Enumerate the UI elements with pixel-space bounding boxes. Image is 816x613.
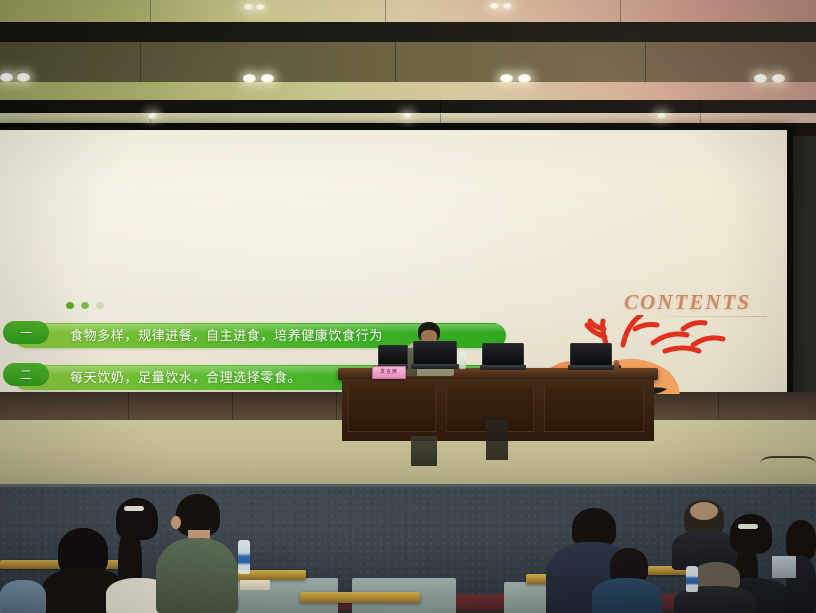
name-placard: 发言席 <box>372 366 406 379</box>
ceiling-light <box>490 3 499 9</box>
tablet-screen <box>772 556 796 578</box>
ceiling-light <box>518 74 531 83</box>
water-bottle-audience <box>686 566 698 592</box>
slide-row-number: 二 <box>3 363 49 386</box>
slide-title: CONTENTS <box>624 290 751 315</box>
laptop <box>411 341 459 369</box>
ceiling-light <box>0 73 13 82</box>
barrier-top-edge <box>0 484 816 487</box>
floor-cable <box>760 456 816 470</box>
bald-crown <box>690 502 718 520</box>
ceiling-beam-top <box>0 22 816 42</box>
hair <box>786 520 816 560</box>
placard-text: 发言席 <box>373 367 405 378</box>
presenter-legs <box>411 436 437 466</box>
slide-dots <box>66 302 104 309</box>
laptop <box>568 343 614 370</box>
water-bottle-audience <box>238 540 250 574</box>
ceiling-light <box>261 74 274 83</box>
ceiling-light <box>243 74 256 83</box>
notebook <box>240 580 270 590</box>
ceiling-light <box>403 113 412 119</box>
dot-icon <box>96 302 104 309</box>
chair-under-table <box>486 420 508 460</box>
slide-title-underline <box>642 316 767 317</box>
ceiling-light <box>148 113 157 119</box>
ceiling-dim-band <box>0 42 816 82</box>
audience-person <box>156 494 238 613</box>
lecture-hall-photo: CONTENTS <box>0 0 816 613</box>
audience-person <box>0 580 46 613</box>
ceiling-light <box>657 113 666 119</box>
water-bottle-table <box>459 352 466 369</box>
ceiling-light <box>244 4 253 10</box>
slide-row-text: 每天饮奶，足量饮水，合理选择零食。 <box>70 366 301 386</box>
ceiling-lit-strip-mid <box>0 82 816 100</box>
dot-icon <box>66 302 74 309</box>
slide-row-number: 一 <box>3 321 49 344</box>
slide-row-text: 食物多样，规律进餐，自主进食，培养健康饮食行为 <box>70 324 383 344</box>
ceiling-light <box>754 74 767 83</box>
ceiling-lit-strip-top <box>0 0 816 22</box>
ceiling-light <box>503 3 512 9</box>
ceiling-light <box>500 74 513 83</box>
dot-icon <box>81 302 89 309</box>
shoulders <box>156 538 238 613</box>
seat-rail[interactable] <box>300 592 420 603</box>
ceiling-beam-mid <box>0 100 816 113</box>
laptop <box>480 343 526 370</box>
ceiling-light <box>256 4 265 10</box>
ear <box>171 516 181 529</box>
ceiling-light <box>772 74 785 83</box>
audience-person <box>592 548 662 613</box>
shoulders <box>0 580 46 613</box>
ceiling <box>0 0 816 130</box>
hair-tie <box>738 524 758 529</box>
ceiling-light <box>17 73 30 82</box>
shoulders <box>592 578 662 613</box>
water-glass-table <box>614 360 619 369</box>
hair-tie <box>124 506 144 511</box>
